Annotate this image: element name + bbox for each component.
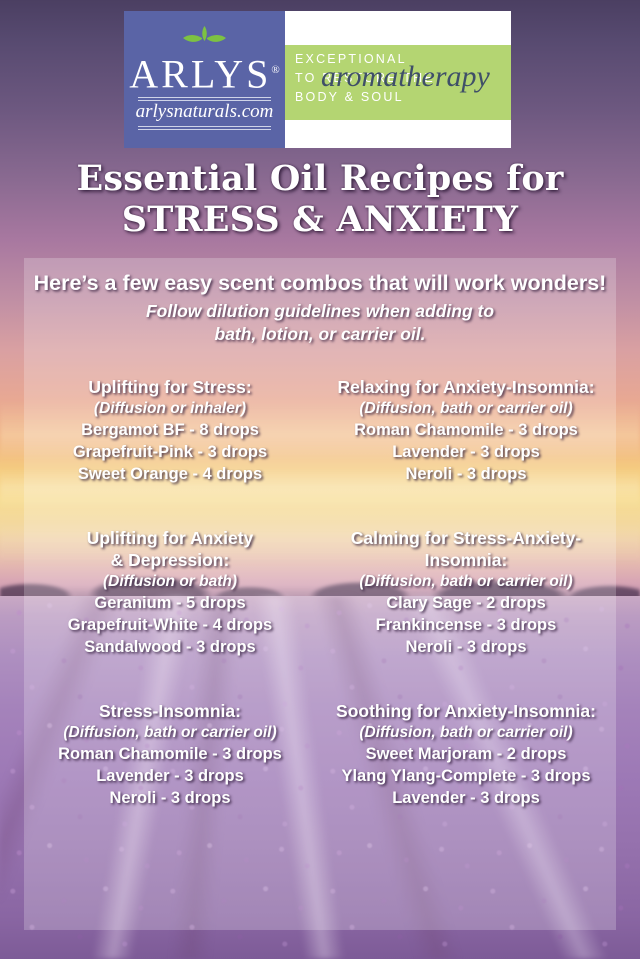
intro-subtext-line-1: Follow dilution guidelines when adding t… (24, 300, 616, 323)
registered-mark: ® (271, 64, 279, 76)
recipe-title: & Depression: (28, 549, 312, 571)
recipe-ingredient: Clary Sage - 2 drops (320, 592, 612, 614)
recipe-method: (Diffusion, bath or carrier oil) (320, 571, 612, 592)
page-title-line-2: STRESS & ANXIETY (0, 199, 640, 240)
recipe-ingredient: Bergamot BF - 8 drops (28, 419, 312, 441)
recipe-ingredient: Geranium - 5 drops (28, 592, 312, 614)
leaf-icon (124, 24, 285, 50)
intro-subtext: Follow dilution guidelines when adding t… (24, 300, 616, 346)
recipe-ingredient: Neroli - 3 drops (320, 636, 612, 658)
recipe-ingredient: Sweet Marjoram - 2 drops (320, 743, 612, 765)
recipe-card: Soothing for Anxiety-Insomnia:(Diffusion… (316, 700, 616, 809)
recipe-method: (Diffusion, bath or carrier oil) (28, 722, 312, 743)
recipe-title: Stress-Insomnia: (28, 700, 312, 722)
brand-logo-square: ARLYS® arlysnaturals.com (124, 11, 285, 148)
divider-rule (138, 97, 271, 98)
recipe-ingredient: Lavender - 3 drops (320, 787, 612, 809)
tagline-script-word: aromatherapy (321, 62, 490, 92)
brand-name: ARLYS® (124, 49, 285, 95)
recipe-title: Soothing for Anxiety-Insomnia: (320, 700, 612, 722)
tagline-box: EXCEPTIONAL TO RESTORE THE BODY & SOUL a… (285, 45, 511, 120)
intro-headline: Here’s a few easy scent combos that will… (24, 270, 616, 296)
recipe-method: (Diffusion or inhaler) (28, 398, 312, 419)
recipe-grid: Uplifting for Stress:(Diffusion or inhal… (24, 376, 616, 809)
recipe-title: Uplifting for Anxiety (28, 527, 312, 549)
recipe-card: Relaxing for Anxiety-Insomnia:(Diffusion… (316, 376, 616, 485)
recipe-ingredient: Grapefruit-Pink - 3 drops (28, 441, 312, 463)
recipe-ingredient: Roman Chamomile - 3 drops (320, 419, 612, 441)
brand-logo-block: ARLYS® arlysnaturals.com EXCEPTIONAL TO … (124, 11, 511, 148)
recipe-method: (Diffusion or bath) (28, 571, 312, 592)
recipe-ingredient: Lavender - 3 drops (320, 441, 612, 463)
recipe-ingredient: Grapefruit-White - 4 drops (28, 614, 312, 636)
divider-rule (138, 129, 271, 130)
recipe-title: Uplifting for Stress: (28, 376, 312, 398)
brand-name-text: ARLYS (129, 51, 271, 96)
recipe-card: Calming for Stress-Anxiety-Insomnia:(Dif… (316, 527, 616, 658)
recipe-method: (Diffusion, bath or carrier oil) (320, 722, 612, 743)
page-title-line-1: Essential Oil Recipes for (0, 158, 640, 199)
recipe-ingredient: Neroli - 3 drops (320, 463, 612, 485)
page-title: Essential Oil Recipes for STRESS & ANXIE… (0, 158, 640, 240)
recipe-card: Stress-Insomnia:(Diffusion, bath or carr… (24, 700, 316, 809)
recipe-ingredient: Sandalwood - 3 drops (28, 636, 312, 658)
recipe-ingredient: Lavender - 3 drops (28, 765, 312, 787)
recipe-card: Uplifting for Stress:(Diffusion or inhal… (24, 376, 316, 485)
divider-rule (138, 126, 271, 127)
recipe-ingredient: Frankincense - 3 drops (320, 614, 612, 636)
tagline-container: EXCEPTIONAL TO RESTORE THE BODY & SOUL a… (285, 11, 511, 148)
brand-website: arlysnaturals.com (124, 101, 285, 123)
recipe-method: (Diffusion, bath or carrier oil) (320, 398, 612, 419)
recipe-ingredient: Roman Chamomile - 3 drops (28, 743, 312, 765)
intro-subtext-line-2: bath, lotion, or carrier oil. (24, 323, 616, 346)
recipe-ingredient: Ylang Ylang-Complete - 3 drops (320, 765, 612, 787)
recipe-title: Insomnia: (320, 549, 612, 571)
recipe-card: Uplifting for Anxiety& Depression:(Diffu… (24, 527, 316, 658)
recipe-ingredient: Neroli - 3 drops (28, 787, 312, 809)
intro-block: Here’s a few easy scent combos that will… (24, 270, 616, 346)
recipe-title: Relaxing for Anxiety-Insomnia: (320, 376, 612, 398)
recipe-ingredient: Sweet Orange - 4 drops (28, 463, 312, 485)
recipe-title: Calming for Stress-Anxiety- (320, 527, 612, 549)
